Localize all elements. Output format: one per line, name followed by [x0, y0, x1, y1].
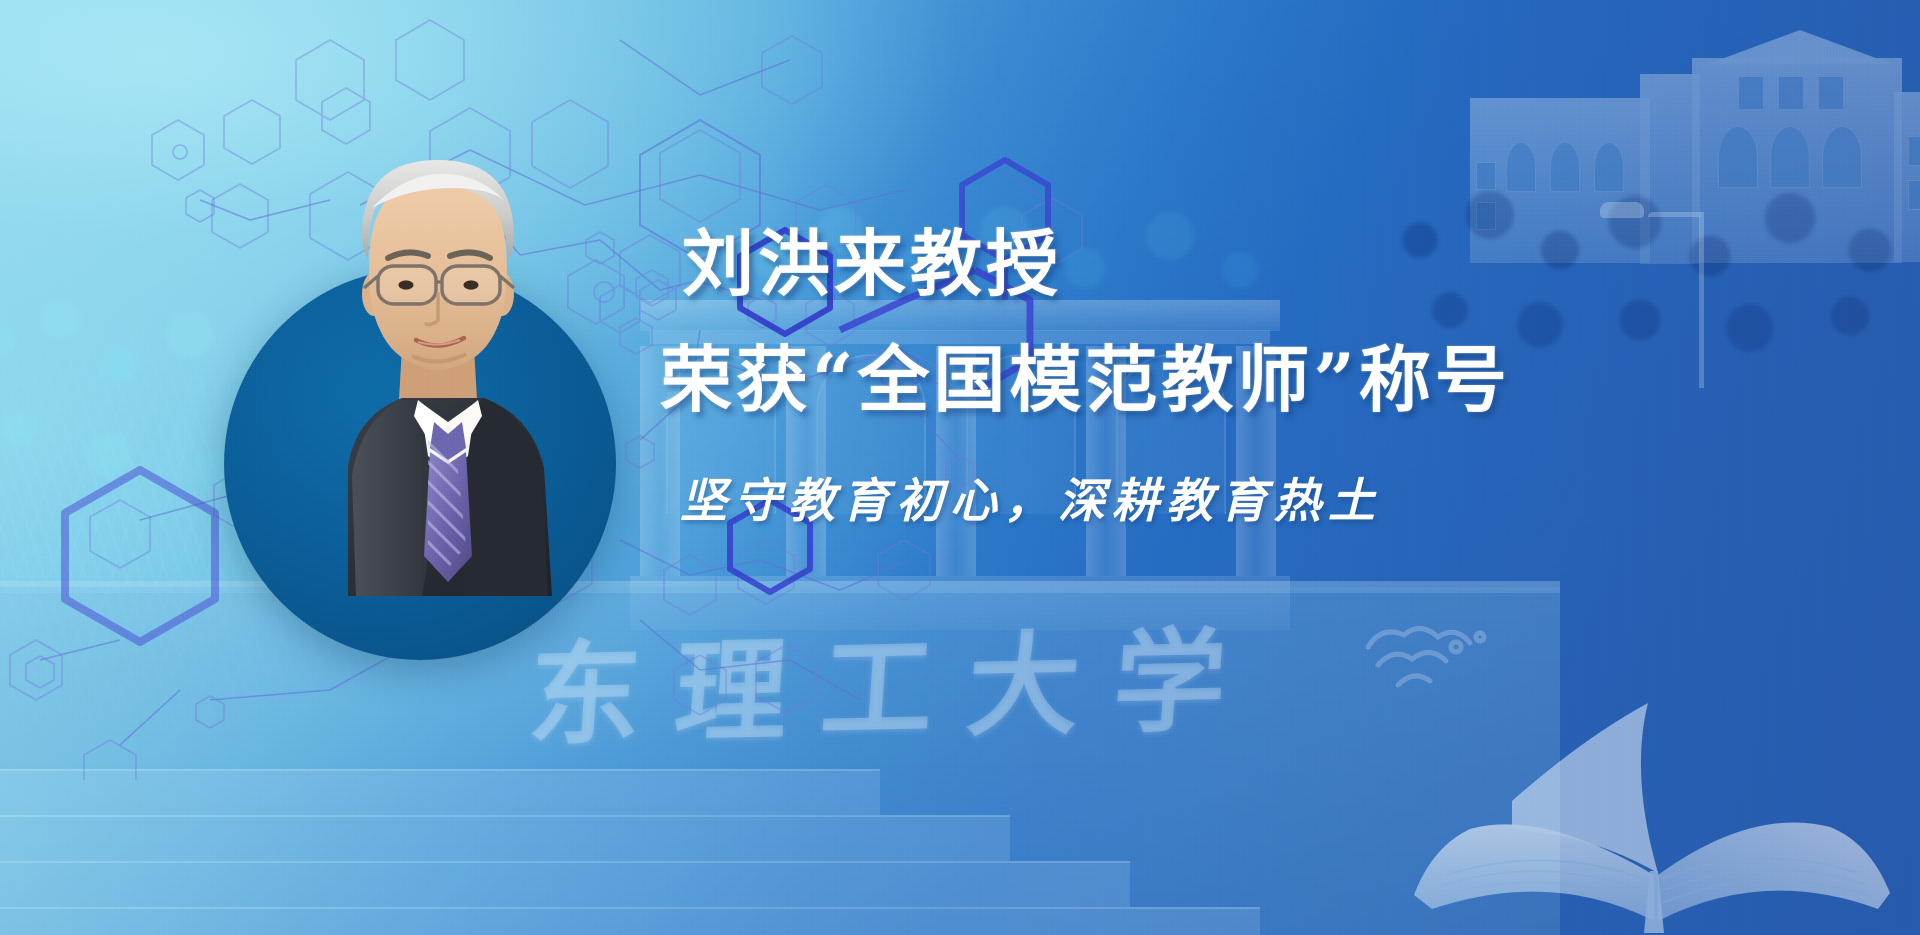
award-banner: 东理工大学 [0, 0, 1920, 935]
building-window [1908, 136, 1920, 166]
monument-step [0, 815, 1010, 861]
ruyi-cloud-motif [1360, 617, 1520, 703]
building-window [1818, 76, 1844, 110]
portrait-photo [252, 116, 624, 596]
building-window [1778, 76, 1804, 110]
lamp-pole [1699, 212, 1704, 388]
street-lamp [1600, 198, 1710, 388]
headline-block: 刘洪来教授 荣获“全国模范教师”称号 坚守教育初心，深耕教育热土 [660, 228, 1480, 531]
lamp-arm [1648, 212, 1702, 217]
monument-step [0, 907, 1260, 935]
headline-line-2: 荣获“全国模范教师”称号 [660, 344, 1480, 416]
monument-step [0, 861, 1130, 907]
headline-subtitle: 坚守教育初心，深耕教育热土 [680, 462, 1480, 531]
building-window [1738, 76, 1764, 110]
portrait [224, 116, 624, 596]
headline-line-1: 刘洪来教授 [682, 228, 1480, 300]
lamp-head [1600, 202, 1644, 218]
